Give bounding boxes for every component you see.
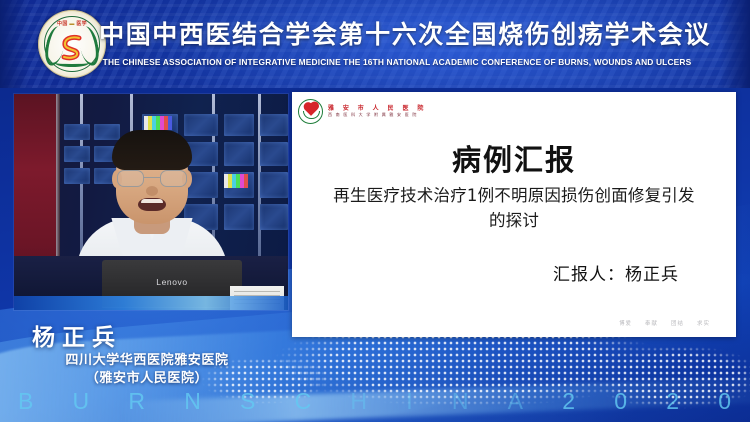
wordmark-letter: I: [406, 388, 413, 415]
hospital-name-chinese: 雅 安 市 人 民 医 院: [328, 106, 427, 112]
wordmark-letter: 2: [562, 388, 576, 415]
wordmark-letter: R: [128, 388, 146, 415]
presentation-slide[interactable]: 雅 安 市 人 民 医 院 西 南 医 科 大 学 附 属 雅 安 医 院 病例…: [292, 92, 736, 337]
speaker-nose: [146, 186, 158, 196]
monitor-tile: [260, 114, 288, 136]
hospital-name-block: 雅 安 市 人 民 医 院 西 南 医 科 大 学 附 属 雅 安 医 院: [328, 106, 427, 117]
wordmark-letter: A: [508, 388, 524, 415]
conference-title-chinese: 中国中西医结合学会第十六次全国烧伤创疡学术会议: [0, 20, 750, 50]
emblem-bowl-shape: [303, 111, 320, 119]
speaker-mouth: [138, 198, 166, 211]
slide-presenter-label: 汇报人：杨正兵: [553, 260, 679, 285]
hospital-name-subline: 西 南 医 科 大 学 附 属 雅 安 医 院: [328, 113, 427, 117]
event-wordmark: B U R N S C H I N A 2 0 2 0: [0, 386, 750, 416]
speaker-eyebrow-right: [161, 165, 183, 168]
conference-header-banner: 中国 ▬ 医学 中国中西医结合学会第十六次全国烧伤创疡学术会议 THE CHIN…: [0, 0, 750, 88]
slide-subtitle: 再生医疗技术治疗1例不明原因损伤创面修复引发的探讨: [332, 184, 696, 234]
laptop-brand-label: Lenovo: [102, 277, 242, 287]
hospital-logo: 雅 安 市 人 民 医 院 西 南 医 科 大 学 附 属 雅 安 医 院: [298, 97, 448, 125]
wordmark-letter: H: [350, 388, 368, 415]
speaker-nameplate: 杨正兵 四川大学华西医院雅安医院 （雅安市人民医院）: [22, 318, 272, 389]
monitor-tile: [260, 172, 288, 198]
wordmark-letter: C: [295, 388, 313, 415]
monitor-tile: [260, 204, 288, 230]
conference-title-english: THE CHINESE ASSOCIATION OF INTEGRATIVE M…: [0, 57, 750, 67]
slide-motto: 博爱: [619, 319, 632, 327]
monitor-tile: [224, 114, 254, 136]
speaker-organization-line1: 四川大学华西医院雅安医院: [22, 352, 272, 370]
wordmark-letter: N: [452, 388, 470, 415]
conference-broadcast-screen: 中国 ▬ 医学 中国中西医结合学会第十六次全国烧伤创疡学术会议 THE CHIN…: [0, 0, 750, 422]
monitor-tile: [224, 204, 254, 230]
slide-motto: 奉献: [645, 319, 658, 327]
monitor-tile: [260, 142, 288, 166]
wordmark-letter: U: [73, 388, 91, 415]
wordmark-letter: 0: [614, 388, 628, 415]
slide-motto: 团结: [671, 319, 684, 327]
wordmark-letter: S: [240, 388, 256, 415]
wordmark-letter: B: [18, 388, 34, 415]
speaker-name: 杨正兵: [22, 318, 272, 352]
monitor-tile: [224, 142, 254, 166]
speaker-video-panel[interactable]: Lenovo: [14, 94, 288, 310]
speaker-hair: [112, 130, 192, 170]
hospital-emblem-icon: [298, 99, 323, 124]
slide-motto: 求实: [697, 319, 710, 327]
wordmark-letter: 0: [718, 388, 732, 415]
speaker-eyebrow-left: [121, 165, 143, 168]
glasses-lens-right: [160, 170, 187, 187]
glasses-bridge: [144, 177, 160, 178]
wordmark-letter: 2: [666, 388, 680, 415]
glasses-lens-left: [117, 170, 144, 187]
slide-title: 病例汇报: [292, 137, 736, 179]
monitor-colorbars: [144, 116, 172, 130]
wordmark-letter: N: [184, 388, 202, 415]
slide-footer-mottos: 博爱 奉献 团结 求实: [619, 319, 710, 327]
video-bottom-light-strip: [14, 296, 288, 310]
